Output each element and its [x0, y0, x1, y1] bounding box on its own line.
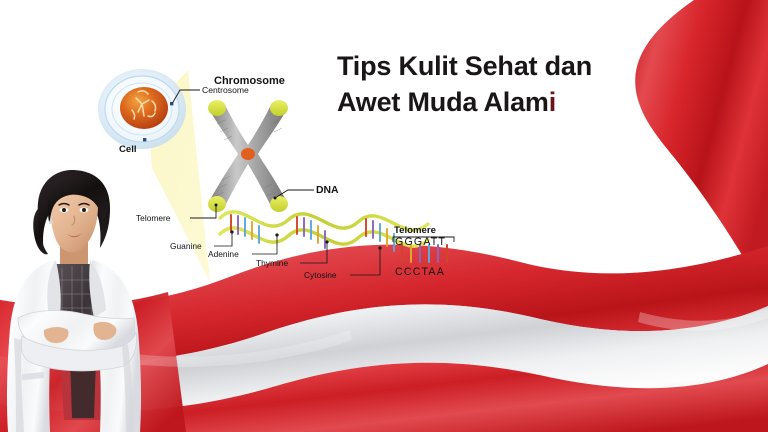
cell-illustration: [98, 69, 186, 149]
doctor-earring: [49, 220, 53, 224]
title-line-2-main: Awet Muda Alam: [337, 87, 549, 117]
doctor-portrait: [0, 168, 170, 432]
label-telomere-right: Telomere: [394, 225, 436, 236]
label-cell: Cell: [119, 144, 137, 155]
label-thymine: Thymine: [256, 258, 288, 268]
centrosome-dot-2: [143, 138, 146, 141]
poster-canvas: Centrosome Cell Chromosome DNA Telomere …: [0, 0, 768, 432]
title-line-2: Awet Muda Alami: [337, 85, 637, 121]
telomere-top-strand: GGGATT: [395, 236, 446, 248]
title-accent-letter: i: [549, 87, 556, 117]
page-title: Tips Kulit Sehat dan Awet Muda Alami: [337, 49, 637, 121]
label-chromosome: Chromosome: [214, 75, 285, 87]
title-line-1: Tips Kulit Sehat dan: [337, 51, 592, 81]
label-adenine: Adenine: [208, 249, 239, 259]
label-cytosine: Cytosine: [304, 270, 337, 280]
chromosome-illustration: [208, 100, 288, 212]
label-dna: DNA: [316, 185, 339, 196]
female-doctor-icon: [0, 168, 170, 432]
centromere: [241, 148, 255, 160]
label-guanine: Guanine: [170, 241, 202, 251]
telomere-tip-top-left: [208, 100, 226, 116]
telomere-tip-bottom-right: [270, 196, 288, 212]
telomere-tip-top-right: [270, 100, 288, 116]
telomere-bottom-strand: CCCTAA: [395, 266, 445, 278]
